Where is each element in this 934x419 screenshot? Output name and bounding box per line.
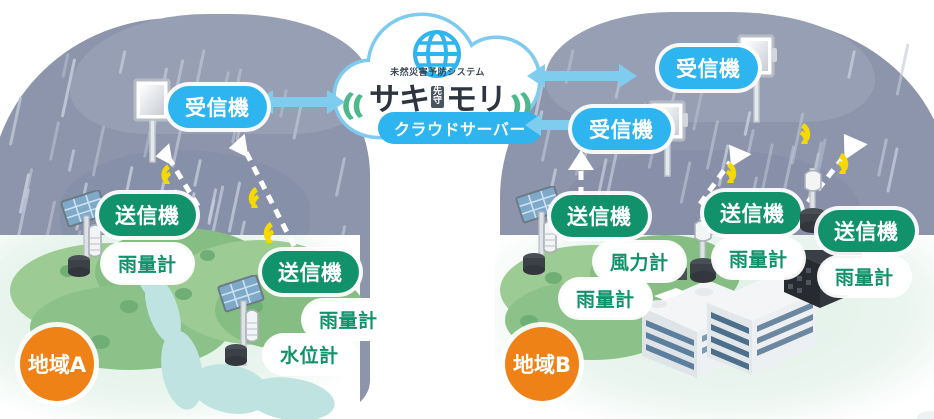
signal-icon-a2 [243, 180, 273, 208]
signal-icon-a3 [258, 215, 288, 243]
region-badge-a[interactable]: 地域A [20, 327, 94, 401]
transmitter-label-a1[interactable]: 送信機 [99, 194, 196, 236]
transmitter-label-b3-text: 送信機 [834, 216, 899, 246]
sensor-label-b2-rain[interactable]: 雨量計 [714, 240, 803, 277]
signal-icon-b2 [786, 116, 816, 144]
sensor-label-b1-wind[interactable]: 風力計 [595, 243, 684, 280]
receiver-label-a-text: 受信機 [185, 92, 250, 122]
signal-icon-a1 [156, 158, 184, 184]
link-arrow-right-upper [527, 62, 637, 90]
receiver-label-b1[interactable]: 受信機 [572, 108, 671, 150]
region-badge-b-text: 地域B [513, 349, 571, 379]
transmitter-label-a2[interactable]: 送信機 [262, 251, 359, 293]
region-badge-a-text: 地域A [28, 349, 86, 379]
cloud-server-node[interactable]: 未然災害予防システム サキ 先 守 モリ クラウドサーバー [330, 8, 545, 148]
receiver-label-b1-text: 受信機 [589, 114, 654, 144]
link-arrow-left [255, 88, 345, 116]
sensor-label-b1-rain[interactable]: 雨量計 [561, 280, 650, 317]
cloud-server-pill[interactable]: クラウドサーバー [378, 112, 542, 144]
brand-kanji-box: 先 守 [431, 86, 444, 108]
transmitter-label-b3[interactable]: 送信機 [818, 210, 915, 252]
receiver-label-b2[interactable]: 受信機 [659, 47, 758, 89]
sensor-label-b1-rain-text: 雨量計 [576, 285, 635, 312]
hill-dot [520, 315, 538, 328]
hill-dot [175, 288, 192, 300]
sensor-label-a2-rain-text: 雨量計 [319, 306, 378, 333]
receiver-label-b2-text: 受信機 [676, 53, 741, 83]
sensor-label-b1-wind-text: 風力計 [610, 248, 669, 275]
diagram-canvas: 未然災害予防システム サキ 先 守 モリ クラウドサーバー 受信機 [0, 0, 934, 419]
hill-dot [120, 300, 138, 313]
transmitter-label-a2-text: 送信機 [278, 257, 343, 287]
hill-dot [200, 250, 215, 261]
sensor-label-a1-rain[interactable]: 雨量計 [103, 245, 192, 282]
transmitter-label-a1-text: 送信機 [115, 200, 180, 230]
hill-dot [90, 335, 110, 349]
sensor-label-a2-rain[interactable]: 雨量計 [304, 301, 393, 338]
transmitter-label-b2-text: 送信機 [720, 198, 785, 228]
transmitter-label-b2[interactable]: 送信機 [704, 192, 801, 234]
region-badge-b[interactable]: 地域B [505, 327, 579, 401]
cloud-server-pill-label: クラウドサーバー [394, 116, 526, 140]
sensor-label-a1-rain-text: 雨量計 [118, 250, 177, 277]
brand-kanji-bottom: 守 [433, 97, 442, 106]
sensor-label-a2-water-text: 水位計 [280, 341, 339, 368]
transmitter-label-b1-text: 送信機 [567, 201, 632, 231]
receiver-label-a[interactable]: 受信機 [168, 86, 267, 128]
signal-icon-b1 [712, 155, 742, 183]
sensor-label-b3-rain[interactable]: 雨量計 [820, 258, 909, 295]
sensor-label-a2-water[interactable]: 水位計 [265, 336, 354, 373]
sensor-label-b2-rain-text: 雨量計 [729, 245, 788, 272]
transmitter-label-b1[interactable]: 送信機 [551, 195, 648, 237]
sensor-label-b3-rain-text: 雨量計 [835, 263, 894, 290]
